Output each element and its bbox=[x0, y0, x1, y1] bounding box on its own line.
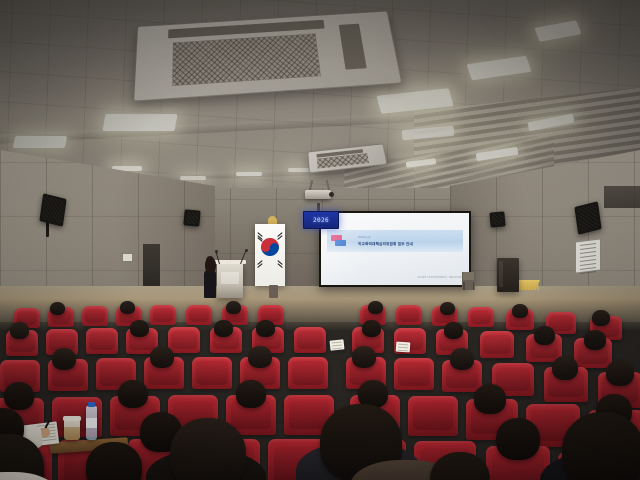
attendee-head bbox=[4, 382, 34, 410]
attendee-head bbox=[50, 302, 65, 315]
projected-slide: 2026학년도 학교폭력대책심의위원회 업무 안내 교육지원청 학교폭력대책심의… bbox=[321, 213, 469, 285]
printed-handout bbox=[330, 339, 345, 350]
wall-mounted-speaker bbox=[489, 211, 505, 227]
attendee-head bbox=[256, 320, 275, 337]
attendee-head bbox=[592, 310, 610, 326]
projector-lens-icon bbox=[329, 192, 334, 197]
led-sign-label: 2026 bbox=[313, 217, 329, 224]
printed-handout bbox=[396, 342, 411, 353]
auditorium-seat bbox=[150, 305, 176, 325]
auditorium-seat bbox=[294, 327, 326, 353]
stage-side-chair bbox=[462, 272, 475, 290]
auditorium-seat bbox=[480, 331, 514, 358]
lectern-front-panel bbox=[221, 272, 239, 284]
attendee-head bbox=[562, 412, 640, 480]
microphone-head-icon bbox=[245, 249, 248, 252]
auditorium-seat bbox=[288, 357, 328, 389]
attendee-head bbox=[512, 304, 528, 318]
slide-logo-icon bbox=[331, 235, 348, 247]
led-display-sign: 2026 bbox=[303, 211, 339, 229]
cup-lid bbox=[63, 416, 81, 421]
auditorium-seat bbox=[192, 357, 232, 389]
auditorium-seat bbox=[186, 305, 212, 325]
flag-stand-base bbox=[269, 285, 278, 298]
auditorium-seat bbox=[408, 396, 458, 436]
slide-footer-text: 교육지원청 학교폭력대책심의위원회 · 생활교육지원팀 bbox=[417, 276, 462, 279]
ceiling-mounted-projector bbox=[305, 190, 331, 199]
auditorium-photo: 2026학년도 학교폭력대책심의위원회 업무 안내 교육지원청 학교폭력대책심의… bbox=[0, 0, 640, 480]
presenter-hair bbox=[205, 257, 216, 273]
wall-mounted-speaker bbox=[574, 201, 601, 235]
chair-leg bbox=[463, 282, 465, 290]
taeguk-symbol-icon bbox=[261, 238, 279, 256]
auditorium-seat bbox=[468, 307, 494, 327]
wall-plaque bbox=[122, 253, 133, 262]
attendee-head bbox=[496, 418, 540, 460]
auditorium-seat bbox=[82, 306, 108, 326]
attendee-head bbox=[170, 418, 246, 480]
takeaway-coffee-cup bbox=[64, 418, 80, 440]
attendee-head bbox=[150, 346, 174, 368]
attendee-head bbox=[584, 330, 606, 350]
upper-wall-opening bbox=[604, 186, 640, 208]
speaker-grille bbox=[185, 211, 198, 224]
audience-seating-area bbox=[0, 300, 640, 480]
attendee-head bbox=[214, 320, 233, 337]
attendee-head bbox=[236, 380, 266, 408]
attendee-head bbox=[226, 301, 241, 314]
stage-side-cabinet bbox=[497, 258, 519, 292]
presenter-torso bbox=[204, 270, 216, 298]
auditorium-seat bbox=[396, 305, 422, 325]
bottle-cap bbox=[88, 402, 95, 407]
attendee-head bbox=[52, 348, 76, 370]
korean-national-flag bbox=[255, 224, 285, 286]
attendee-head bbox=[552, 356, 578, 380]
chair-back bbox=[463, 272, 474, 280]
plastic-water-bottle bbox=[86, 406, 97, 440]
attendee-head bbox=[606, 360, 634, 386]
microphone-head-icon bbox=[215, 250, 218, 253]
chair-leg bbox=[473, 282, 475, 290]
speaker-grille bbox=[577, 204, 600, 233]
attendee-head bbox=[444, 322, 463, 339]
attendee-head bbox=[368, 301, 383, 314]
wall-mounted-speaker bbox=[39, 193, 66, 227]
attendee-head bbox=[474, 384, 506, 414]
attendee-head bbox=[118, 380, 148, 408]
auditorium-seat bbox=[168, 327, 200, 353]
attendee-head bbox=[440, 302, 455, 315]
auditorium-seat bbox=[86, 328, 118, 354]
slide-kicker-text: 2026학년도 bbox=[358, 235, 371, 239]
attendee-head bbox=[248, 346, 272, 368]
attendee-head bbox=[352, 346, 376, 368]
speaker-grille bbox=[42, 196, 65, 225]
projection-screen: 2026학년도 학교폭력대책심의위원회 업무 안내 교육지원청 학교폭력대책심의… bbox=[319, 211, 471, 287]
cabinet-highlight bbox=[499, 261, 503, 287]
bottle-label bbox=[86, 418, 97, 428]
auditorium-seat bbox=[394, 358, 434, 390]
side-exit-doorway[interactable] bbox=[143, 244, 160, 290]
presenter-at-podium bbox=[203, 256, 217, 298]
attendee-head bbox=[362, 320, 381, 337]
wall-notice-board bbox=[575, 238, 601, 273]
attendee-head bbox=[120, 301, 135, 314]
attendee-head bbox=[10, 322, 29, 339]
attendee-head bbox=[534, 326, 555, 345]
wall-mounted-speaker bbox=[183, 209, 200, 226]
attendee-head bbox=[130, 320, 149, 337]
attendee-head bbox=[450, 348, 474, 370]
speaker-grille bbox=[492, 214, 504, 226]
slide-title-text: 학교폭력대책심의위원회 업무 안내 bbox=[358, 242, 413, 247]
